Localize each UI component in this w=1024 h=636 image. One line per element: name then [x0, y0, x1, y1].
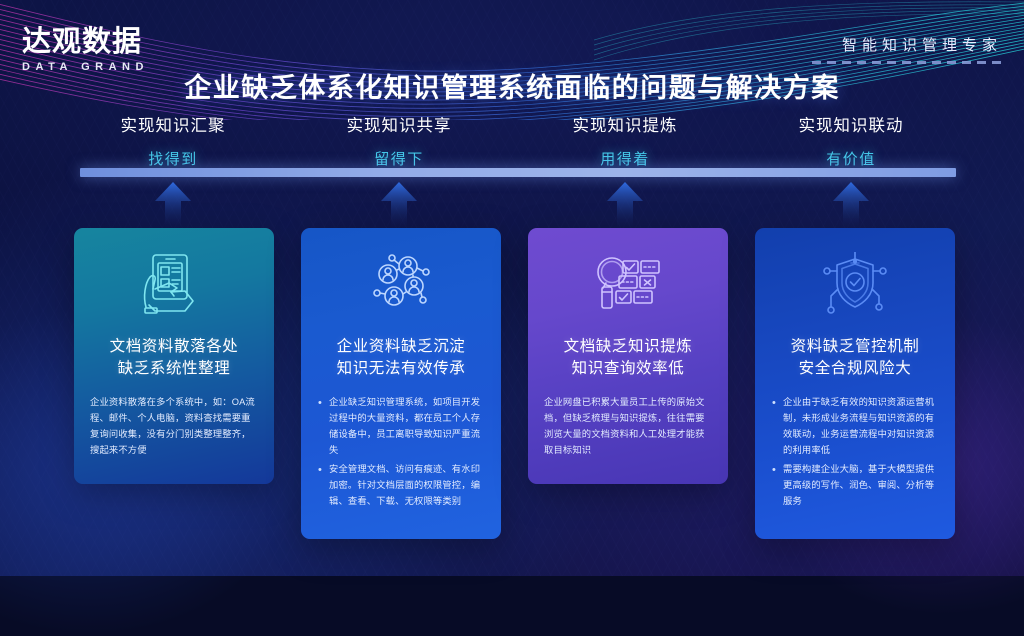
step-title-3: 实现知识提炼 [512, 112, 738, 136]
step-subtitle-2: 留得下 [286, 148, 512, 169]
shield-check-circuit-icon [771, 246, 939, 322]
brand-tagline: 智能知识管理专家 [812, 34, 1002, 64]
arrow-cell-2 [286, 182, 512, 230]
list-item: 安全管理文档、访问有痕迹、有水印加密。针对文档层面的权限管控，编辑、查看、下载、… [317, 462, 485, 510]
problem-card-3[interactable]: 文档缺乏知识提炼 知识查询效率低 企业网盘已积累大量员工上传的原始文档，但缺乏梳… [528, 228, 728, 484]
step-subtitle-4: 有价值 [738, 148, 964, 169]
step-header-1: 实现知识汇聚 找得到 [60, 112, 286, 169]
step-subtitle-3: 用得着 [512, 148, 738, 169]
arrow-up-icon [607, 182, 643, 228]
card-heading-line2: 缺乏系统性整理 [90, 358, 258, 380]
arrow-cell-3 [512, 182, 738, 230]
card-body-3: 企业网盘已积累大量员工上传的原始文档，但缺乏梳理与知识提炼，往往需要浏览大量的文… [544, 395, 712, 459]
card-heading-4: 资料缺乏管控机制 安全合规风险大 [771, 336, 939, 381]
step-title-4: 实现知识联动 [738, 112, 964, 136]
card-bullet-list: 企业缺乏知识管理系统，如项目开发过程中的大量资料，都在员工个人存储设备中，员工离… [317, 395, 485, 510]
card-heading-line1: 文档缺乏知识提炼 [544, 336, 712, 358]
step-subtitle-1: 找得到 [60, 148, 286, 169]
step-header-row: 实现知识汇聚 找得到 实现知识共享 留得下 实现知识提炼 用得着 实现知识联动 … [60, 112, 964, 169]
list-item: 企业由于缺乏有效的知识资源运营机制，未形成业务流程与知识资源的有效联动，业务运营… [771, 395, 939, 459]
problem-card-1[interactable]: 文档资料散落各处 缺乏系统性整理 企业资料散落在多个系统中，如：OA流程、邮件、… [74, 228, 274, 484]
card-heading-line1: 资料缺乏管控机制 [771, 336, 939, 358]
magnifier-checklist-icon [544, 246, 712, 322]
card-body-1: 企业资料散落在多个系统中，如：OA流程、邮件、个人电脑，资料查找需要重复询问收集… [90, 395, 258, 459]
slide-background: 达观数据 DATA GRAND 智能知识管理专家 企业缺乏体系化知识管理系统面临… [0, 0, 1024, 576]
page-title: 企业缺乏体系化知识管理系统面临的问题与解决方案 [0, 66, 1024, 105]
arrow-cell-4 [738, 182, 964, 230]
card-heading-line1: 企业资料缺乏沉淀 [317, 336, 485, 358]
brand-name-cn: 达观数据 [22, 26, 149, 56]
card-heading-line1: 文档资料散落各处 [90, 336, 258, 358]
card-heading-line2: 安全合规风险大 [771, 358, 939, 380]
problem-card-4[interactable]: 资料缺乏管控机制 安全合规风险大 企业由于缺乏有效的知识资源运营机制，未形成业务… [755, 228, 955, 539]
list-item: 企业缺乏知识管理系统，如项目开发过程中的大量资料，都在员工个人存储设备中，员工离… [317, 395, 485, 459]
arrow-up-icon [381, 182, 417, 228]
card-body-2: 企业缺乏知识管理系统，如项目开发过程中的大量资料，都在员工个人存储设备中，员工离… [317, 395, 485, 510]
arrow-up-icon [833, 182, 869, 228]
arrow-row [60, 182, 964, 230]
brand-tagline-text: 智能知识管理专家 [812, 34, 1002, 55]
step-title-2: 实现知识共享 [286, 112, 512, 136]
card-heading-1: 文档资料散落各处 缺乏系统性整理 [90, 336, 258, 381]
arrow-up-icon [155, 182, 191, 228]
problem-card-2[interactable]: 企业资料缺乏沉淀 知识无法有效传承 企业缺乏知识管理系统，如项目开发过程中的大量… [301, 228, 501, 539]
step-header-3: 实现知识提炼 用得着 [512, 112, 738, 169]
card-bullet-list: 企业由于缺乏有效的知识资源运营机制，未形成业务流程与知识资源的有效联动，业务运营… [771, 395, 939, 510]
horizontal-divider-bar [80, 168, 956, 177]
card-paragraph: 企业资料散落在多个系统中，如：OA流程、邮件、个人电脑，资料查找需要重复询问收集… [90, 395, 258, 459]
card-heading-line2: 知识查询效率低 [544, 358, 712, 380]
tagline-dashed-rule [812, 61, 1002, 64]
card-body-4: 企业由于缺乏有效的知识资源运营机制，未形成业务流程与知识资源的有效联动，业务运营… [771, 395, 939, 510]
list-item: 需要构建企业大脑，基于大模型提供更高级的写作、润色、审阅、分析等服务 [771, 462, 939, 510]
step-title-1: 实现知识汇聚 [60, 112, 286, 136]
card-heading-2: 企业资料缺乏沉淀 知识无法有效传承 [317, 336, 485, 381]
step-header-2: 实现知识共享 留得下 [286, 112, 512, 169]
card-paragraph: 企业网盘已积累大量员工上传的原始文档，但缺乏梳理与知识提炼，往往需要浏览大量的文… [544, 395, 712, 459]
people-network-icon [317, 246, 485, 322]
card-heading-line2: 知识无法有效传承 [317, 358, 485, 380]
step-header-4: 实现知识联动 有价值 [738, 112, 964, 169]
hand-tablet-document-icon [90, 246, 258, 322]
arrow-cell-1 [60, 182, 286, 230]
card-heading-3: 文档缺乏知识提炼 知识查询效率低 [544, 336, 712, 381]
